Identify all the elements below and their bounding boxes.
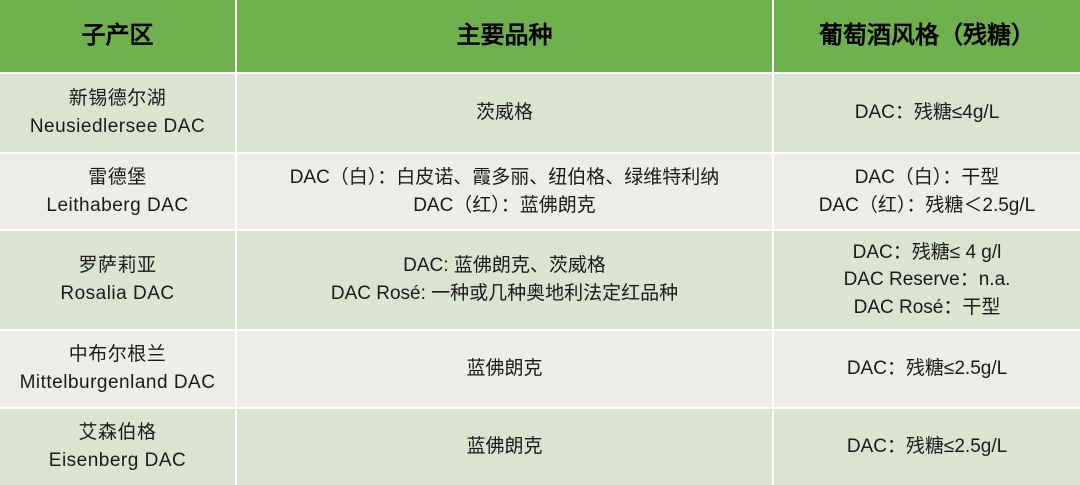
style-line: DAC：残糖≤ 4 g/l bbox=[784, 239, 1070, 267]
table-row: 艾森伯格 Eisenberg DAC 蓝佛朗克 DAC：残糖≤2.5g/L bbox=[0, 408, 1080, 485]
dac-table-container: 子产区 主要品种 葡萄酒风格（残糖） 新锡德尔湖 Neusiedlersee D… bbox=[0, 0, 1080, 485]
style-line: DAC Rosé：干型 bbox=[784, 294, 1070, 322]
style-line: DAC Reserve：n.a. bbox=[784, 266, 1070, 294]
column-header-varieties: 主要品种 bbox=[236, 0, 773, 73]
cell-varieties: DAC（白）：白皮诺、霞多丽、纽伯格、绿维特利纳 DAC（红）：蓝佛朗克 bbox=[236, 153, 773, 230]
variety-line: DAC Rosé: 一种或几种奥地利法定红品种 bbox=[247, 280, 762, 308]
subregion-name-cn: 中布尔根兰 bbox=[10, 341, 225, 369]
cell-style: DAC：残糖≤4g/L bbox=[773, 73, 1080, 153]
style-line: DAC：残糖≤2.5g/L bbox=[784, 433, 1070, 461]
cell-subregion: 艾森伯格 Eisenberg DAC bbox=[0, 408, 236, 485]
style-line: DAC：残糖≤4g/L bbox=[784, 99, 1070, 127]
table-row: 新锡德尔湖 Neusiedlersee DAC 茨威格 DAC：残糖≤4g/L bbox=[0, 73, 1080, 153]
variety-line: DAC: 蓝佛朗克、茨威格 bbox=[247, 252, 762, 280]
cell-varieties: 蓝佛朗克 bbox=[236, 330, 773, 408]
header-row: 子产区 主要品种 葡萄酒风格（残糖） bbox=[0, 0, 1080, 73]
subregion-name-latin: Mittelburgenland DAC bbox=[10, 369, 225, 397]
table-row: 雷德堡 Leithaberg DAC DAC（白）：白皮诺、霞多丽、纽伯格、绿维… bbox=[0, 153, 1080, 230]
style-line: DAC（白）：干型 bbox=[784, 164, 1070, 192]
variety-line: 茨威格 bbox=[247, 99, 762, 127]
table-body: 新锡德尔湖 Neusiedlersee DAC 茨威格 DAC：残糖≤4g/L bbox=[0, 73, 1080, 485]
subregion-name-latin: Eisenberg DAC bbox=[10, 447, 225, 475]
dac-subregion-table: 子产区 主要品种 葡萄酒风格（残糖） 新锡德尔湖 Neusiedlersee D… bbox=[0, 0, 1080, 485]
cell-varieties: 蓝佛朗克 bbox=[236, 408, 773, 485]
cell-varieties: 茨威格 bbox=[236, 73, 773, 153]
cell-style: DAC（白）：干型 DAC（红）：残糖＜2.5g/L bbox=[773, 153, 1080, 230]
style-line: DAC（红）：残糖＜2.5g/L bbox=[784, 192, 1070, 220]
cell-style: DAC：残糖≤2.5g/L bbox=[773, 408, 1080, 485]
variety-line: DAC（红）：蓝佛朗克 bbox=[247, 192, 762, 220]
subregion-name-cn: 艾森伯格 bbox=[10, 419, 225, 447]
column-header-style: 葡萄酒风格（残糖） bbox=[773, 0, 1080, 73]
subregion-name-cn: 雷德堡 bbox=[10, 164, 225, 192]
cell-subregion: 新锡德尔湖 Neusiedlersee DAC bbox=[0, 73, 236, 153]
subregion-name-latin: Rosalia DAC bbox=[10, 280, 225, 308]
cell-subregion: 中布尔根兰 Mittelburgenland DAC bbox=[0, 330, 236, 408]
table-header: 子产区 主要品种 葡萄酒风格（残糖） bbox=[0, 0, 1080, 73]
subregion-name-latin: Leithaberg DAC bbox=[10, 192, 225, 220]
cell-style: DAC：残糖≤2.5g/L bbox=[773, 330, 1080, 408]
cell-style: DAC：残糖≤ 4 g/l DAC Reserve：n.a. DAC Rosé：… bbox=[773, 230, 1080, 330]
subregion-name-latin: Neusiedlersee DAC bbox=[10, 113, 225, 141]
table-row: 罗萨莉亚 Rosalia DAC DAC: 蓝佛朗克、茨威格 DAC Rosé:… bbox=[0, 230, 1080, 330]
variety-line: 蓝佛朗克 bbox=[247, 355, 762, 383]
subregion-name-cn: 新锡德尔湖 bbox=[10, 85, 225, 113]
variety-line: DAC（白）：白皮诺、霞多丽、纽伯格、绿维特利纳 bbox=[247, 164, 762, 192]
variety-line: 蓝佛朗克 bbox=[247, 433, 762, 461]
cell-subregion: 罗萨莉亚 Rosalia DAC bbox=[0, 230, 236, 330]
style-line: DAC：残糖≤2.5g/L bbox=[784, 355, 1070, 383]
cell-varieties: DAC: 蓝佛朗克、茨威格 DAC Rosé: 一种或几种奥地利法定红品种 bbox=[236, 230, 773, 330]
table-row: 中布尔根兰 Mittelburgenland DAC 蓝佛朗克 DAC：残糖≤2… bbox=[0, 330, 1080, 408]
subregion-name-cn: 罗萨莉亚 bbox=[10, 252, 225, 280]
column-header-subregion: 子产区 bbox=[0, 0, 236, 73]
cell-subregion: 雷德堡 Leithaberg DAC bbox=[0, 153, 236, 230]
